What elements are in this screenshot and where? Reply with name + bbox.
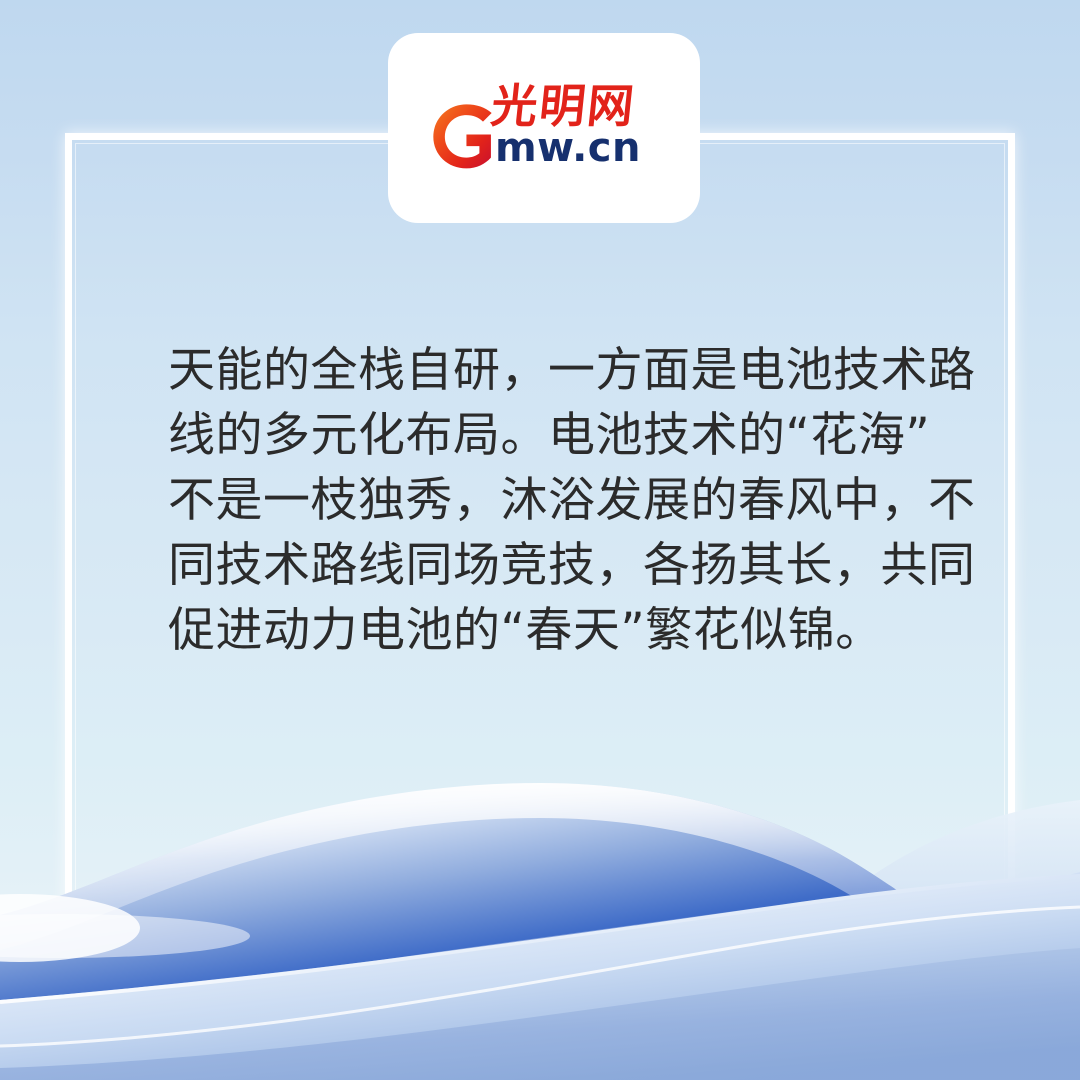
brand-logo-card[interactable]: 光明网 mw.cn: [388, 33, 700, 223]
quote-line: 天能的全栈自研，一方面是电池技术路: [168, 338, 958, 403]
quote-line: 不是一枝独秀，沐浴发展的春风中，不: [168, 468, 958, 533]
brand-domain-wordmark: mw.cn: [495, 128, 641, 168]
quote-text-block: 天能的全栈自研，一方面是电池技术路 线的多元化布局。电池技术的“花海” 不是一枝…: [168, 338, 958, 663]
brand-logo-lockup: 光明网 mw.cn: [429, 82, 659, 174]
quote-line: 线的多元化布局。电池技术的“花海”: [168, 403, 958, 468]
dune-scenery: [0, 750, 1080, 1080]
quote-line: 同技术路线同场竞技，各扬其长，共同: [168, 533, 958, 598]
dune-scenery-svg: [0, 750, 1080, 1080]
quote-line: 促进动力电池的“春天”繁花似锦。: [168, 598, 958, 663]
poster-canvas: 天能的全栈自研，一方面是电池技术路 线的多元化布局。电池技术的“花海” 不是一枝…: [0, 0, 1080, 1080]
